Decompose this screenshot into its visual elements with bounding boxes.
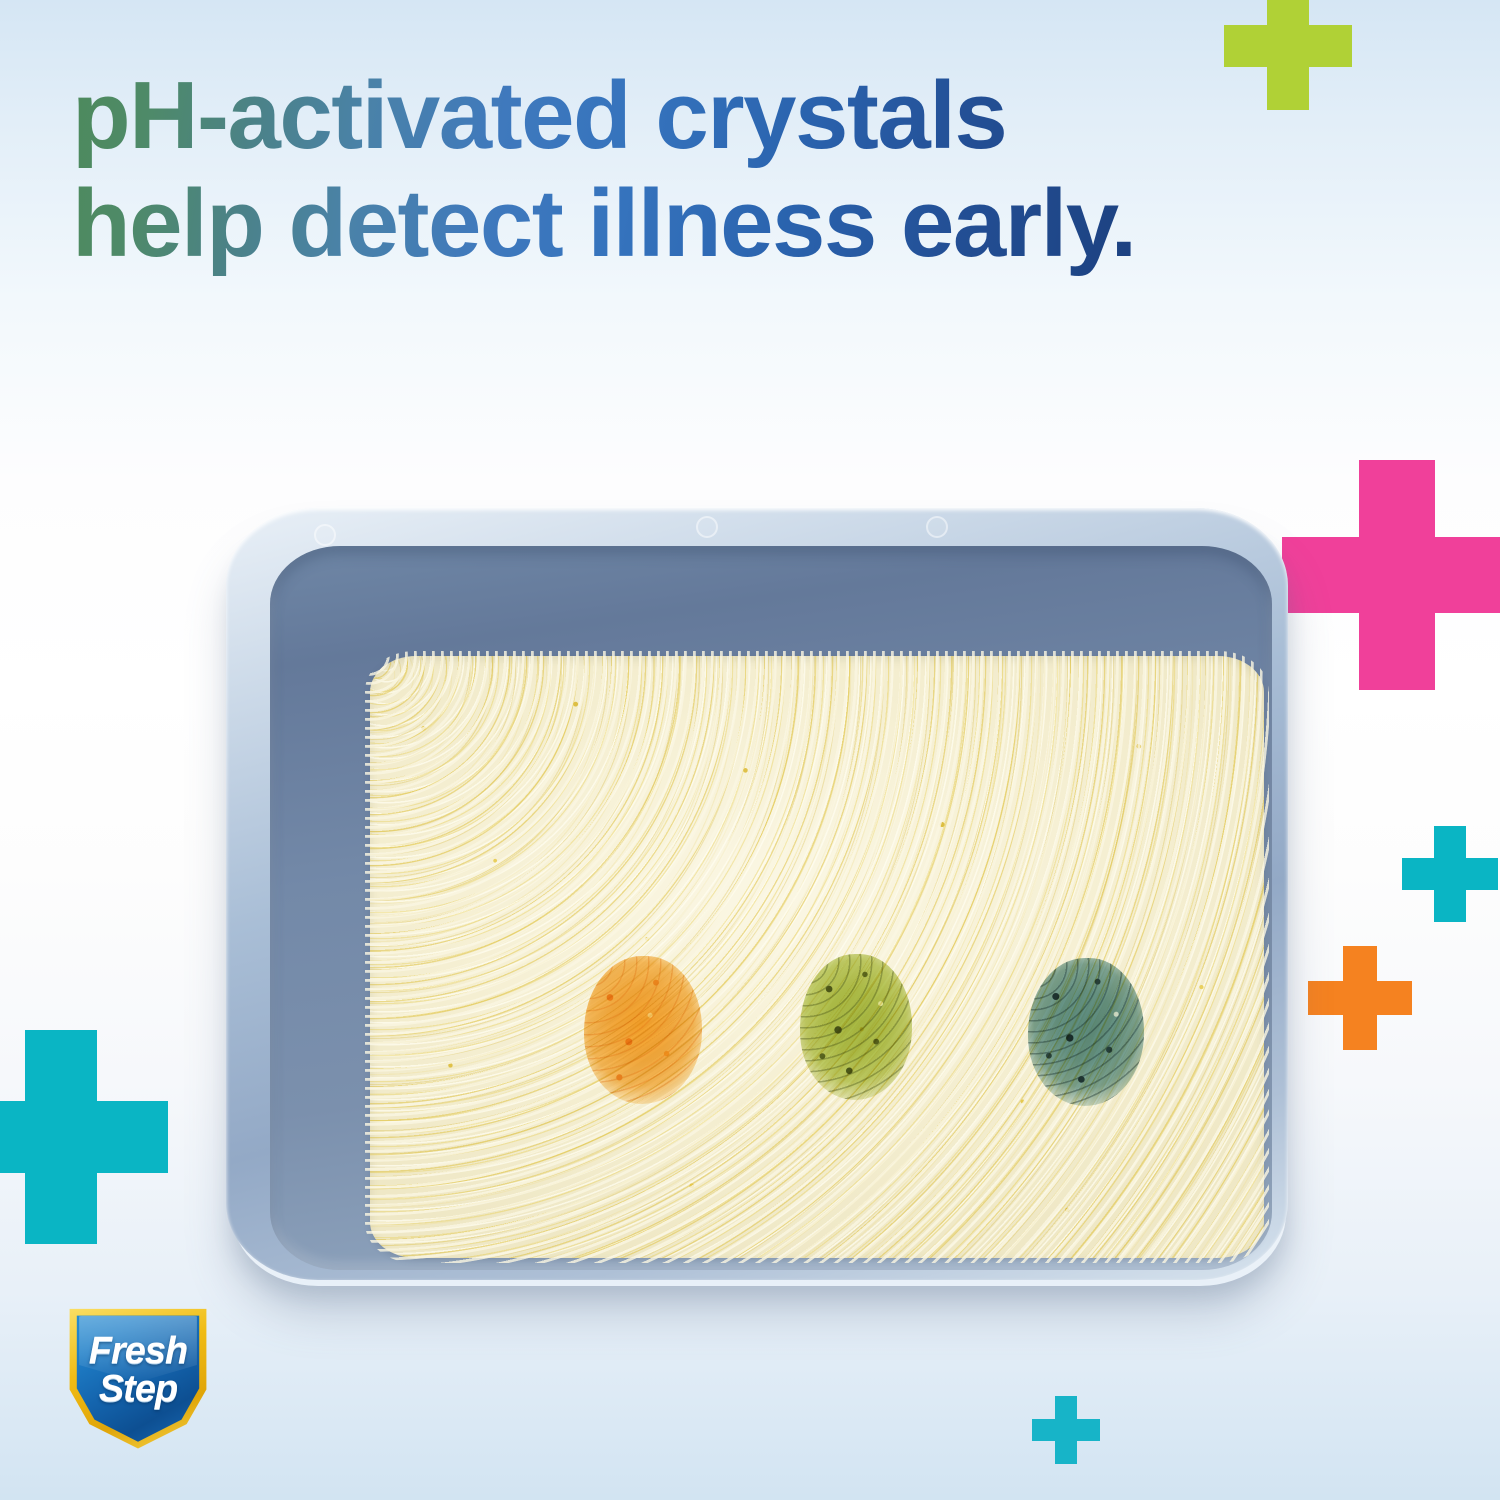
teal-ph-spot <box>1028 958 1144 1106</box>
rim-dimple <box>314 524 336 546</box>
cross-bar-vertical <box>25 1030 96 1244</box>
marketing-image-canvas: pH-activated crystals help detect illnes… <box>0 0 1500 1500</box>
headline-text: pH-activated crystals help detect illnes… <box>72 62 1412 279</box>
teal-cross-bottom <box>1032 1396 1100 1464</box>
cross-bar-horizontal <box>1282 537 1500 614</box>
cross-bar-horizontal <box>1224 25 1352 68</box>
rim-dimple <box>696 516 718 538</box>
pink-cross-right <box>1282 460 1500 690</box>
cross-bar-horizontal <box>1032 1419 1100 1442</box>
orange-ph-spot <box>584 956 702 1104</box>
rim-dimple <box>926 516 948 538</box>
litter-box-inner-wall <box>270 546 1272 1270</box>
cross-bar-vertical <box>1359 460 1436 690</box>
logo-word-fresh: Fresh <box>62 1330 214 1373</box>
logo-word-step: Step <box>62 1368 214 1411</box>
fresh-step-logo: Fresh Step <box>62 1306 214 1450</box>
litter-box-outer-rim <box>226 508 1288 1280</box>
teal-spot-granules <box>1028 958 1144 1106</box>
cross-bar-horizontal <box>1402 858 1498 890</box>
orange-spot-granules <box>584 956 702 1104</box>
green-spot-granules <box>800 954 912 1100</box>
green-ph-spot <box>800 954 912 1100</box>
cross-bar-vertical <box>1434 826 1466 922</box>
crystal-litter-surface <box>370 656 1264 1258</box>
litter-box-photo <box>212 492 1302 1290</box>
teal-cross-left <box>0 1030 168 1244</box>
cross-bar-horizontal <box>0 1101 168 1172</box>
teal-cross-right <box>1402 826 1498 922</box>
cross-bar-horizontal <box>1308 981 1412 1016</box>
orange-cross-right <box>1308 946 1412 1050</box>
cross-bar-vertical <box>1343 946 1378 1050</box>
cross-bar-vertical <box>1055 1396 1078 1464</box>
